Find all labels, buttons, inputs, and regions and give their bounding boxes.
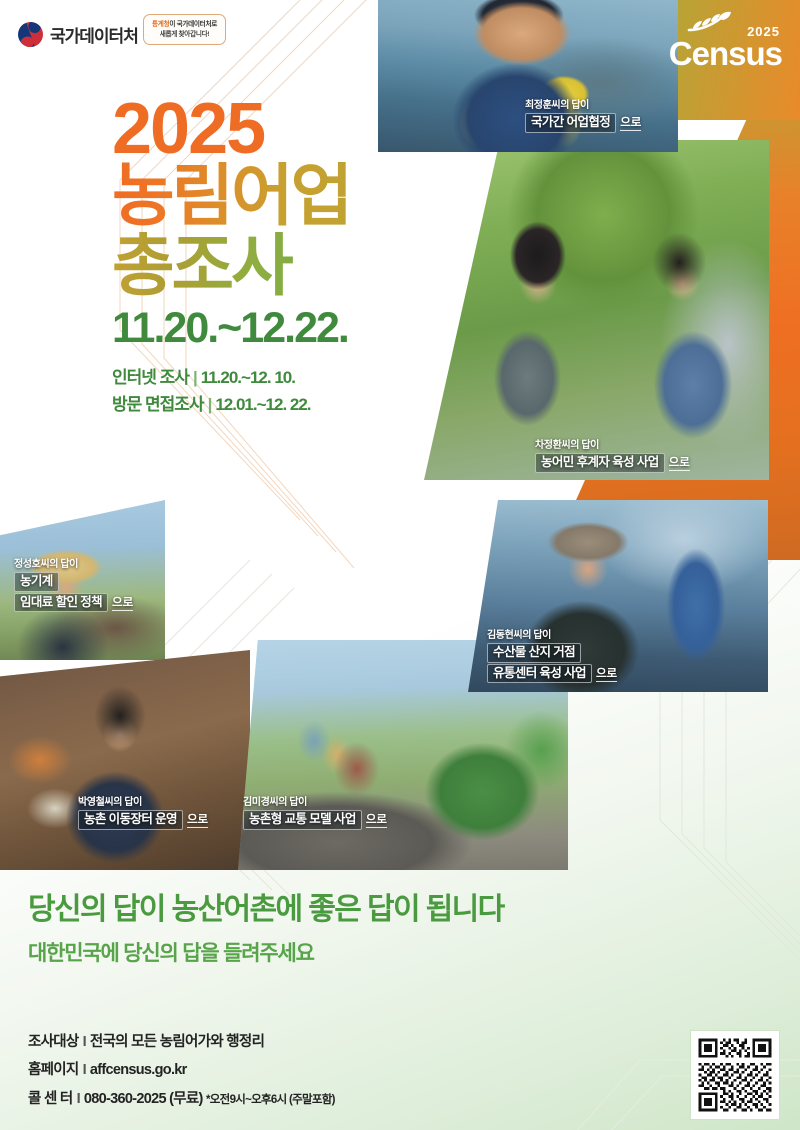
footer-hours-note: *오전9시~오후6시 (주말포함)	[206, 1094, 335, 1106]
caption-highlight-2: 임대료 할인 정책	[14, 593, 108, 613]
title-date-range: 11.20.~12.22.	[112, 307, 350, 350]
title-line-2: 총조사	[112, 232, 350, 301]
footer-label: 조사대상	[28, 1034, 79, 1050]
caption-highlight-2: 유통센터 육성 사업	[487, 664, 592, 684]
caption-seafood-worker: 김동현씨의 답이 수산물 산지 거점 유통센터 육성 사업으로	[487, 626, 617, 684]
schedule-value: 11.20.~12. 10.	[201, 368, 295, 387]
footer-label: 콜 센 터	[28, 1091, 73, 1107]
caption-mobile-market: 박영철씨의 답이 농촌 이동장터 운영으로	[78, 793, 208, 831]
bubble-rest: 이 국가데이터처로	[169, 21, 217, 28]
caption-highlight: 농어민 후계자 육성 사업	[535, 453, 665, 473]
agency-name: 국가데이터처	[50, 22, 138, 47]
bubble-strong: 통계청	[152, 21, 169, 28]
caption-suffix: 으로	[187, 814, 208, 828]
caption-suffix: 으로	[112, 597, 133, 611]
bubble-line-2: 새롭게 찾아갑니다!	[152, 30, 217, 40]
caption-highlight: 농촌 이동장터 운영	[78, 810, 183, 830]
footer-value: 전국의 모든 농림어가와 행정리	[90, 1034, 264, 1050]
census-word: Census	[669, 39, 782, 69]
footer-website-link[interactable]: affcensus.go.kr	[90, 1062, 187, 1078]
caption-greenhouse-farmers: 차정환씨의 답이 농어민 후계자 육성 사업으로	[535, 436, 690, 474]
caption-intro: 정성호씨의 답이	[14, 555, 133, 570]
slogan-sub: 대한민국에 당신의 답을 들려주세요	[28, 937, 504, 967]
footer-label: 홈페이지	[28, 1062, 79, 1078]
footer-separator: I	[77, 1091, 80, 1107]
survey-schedule: 인터넷 조사|11.20.~12. 10. 방문 면접조사|12.01.~12.…	[112, 364, 350, 418]
footer-row-website: 홈페이지Iaffcensus.go.kr	[28, 1056, 335, 1084]
caption-fisherman-boat: 최정훈씨의 답이 국가간 어업협정으로	[525, 96, 641, 134]
caption-intro: 박영철씨의 답이	[78, 793, 208, 808]
footer-phone[interactable]: 080-360-2025 (무료)	[84, 1091, 203, 1107]
footer-info: 조사대상I전국의 모든 농림어가와 행정리 홈페이지Iaffcensus.go.…	[28, 1028, 335, 1113]
schedule-row-internet: 인터넷 조사|11.20.~12. 10.	[112, 364, 350, 391]
schedule-label: 방문 면접조사	[112, 395, 204, 414]
caption-intro: 차정환씨의 답이	[535, 436, 690, 451]
footer-row-callcenter: 콜 센 터I080-360-2025 (무료) *오전9시~오후6시 (주말포함…	[28, 1085, 335, 1113]
caption-farm-machine: 정성호씨의 답이 농기계 임대료 할인 정책으로	[14, 555, 133, 613]
footer-separator: I	[83, 1034, 86, 1050]
government-logo: 국가데이터처	[18, 22, 138, 47]
schedule-separator: |	[193, 368, 197, 387]
poster-root: 최정훈씨의 답이 국가간 어업협정으로 차정환씨의 답이 농어민 후계자 육성 …	[0, 0, 800, 1130]
schedule-separator: |	[208, 395, 212, 414]
footer-separator: I	[83, 1062, 86, 1078]
caption-suffix: 으로	[669, 457, 690, 471]
bubble-line-1: 통계청이 국가데이터처로	[152, 20, 217, 30]
caption-intro: 김동현씨의 답이	[487, 626, 617, 641]
caption-highlight: 농촌형 교통 모델 사업	[243, 810, 362, 830]
photo-greenhouse-farmers	[424, 140, 769, 480]
caption-highlight: 국가간 어업협정	[525, 113, 616, 133]
caption-intro: 김미경씨의 답이	[243, 793, 387, 808]
caption-suffix: 으로	[366, 814, 387, 828]
schedule-value: 12.01.~12. 22.	[215, 395, 310, 414]
announcement-bubble: 통계청이 국가데이터처로 새롭게 찾아갑니다!	[143, 14, 226, 45]
caption-intro: 최정훈씨의 답이	[525, 96, 641, 111]
caption-suffix: 으로	[596, 668, 617, 682]
caption-suffix: 으로	[620, 117, 641, 131]
schedule-label: 인터넷 조사	[112, 368, 189, 387]
caption-rural-bus-family: 김미경씨의 답이 농촌형 교통 모델 사업으로	[243, 793, 387, 831]
photo-mobile-market	[0, 650, 250, 870]
footer-row-target: 조사대상I전국의 모든 농림어가와 행정리	[28, 1028, 335, 1056]
qr-code-icon[interactable]	[691, 1031, 779, 1119]
caption-highlight-1: 농기계	[14, 572, 59, 592]
taegeuk-icon	[14, 18, 46, 50]
census-logo: 2025 Census	[669, 8, 782, 69]
poster-title: 2025 농림어업 총조사 11.20.~12.22. 인터넷 조사|11.20…	[112, 96, 350, 418]
schedule-row-visit: 방문 면접조사|12.01.~12. 22.	[112, 391, 350, 418]
caption-highlight-1: 수산물 산지 거점	[487, 643, 581, 663]
slogan-main: 당신의 답이 농산어촌에 좋은 답이 됩니다	[28, 893, 504, 928]
title-line-1: 농림어업	[112, 162, 350, 231]
slogan-block: 당신의 답이 농산어촌에 좋은 답이 됩니다 대한민국에 당신의 답을 들려주세…	[28, 893, 504, 967]
title-year: 2025	[112, 96, 350, 162]
